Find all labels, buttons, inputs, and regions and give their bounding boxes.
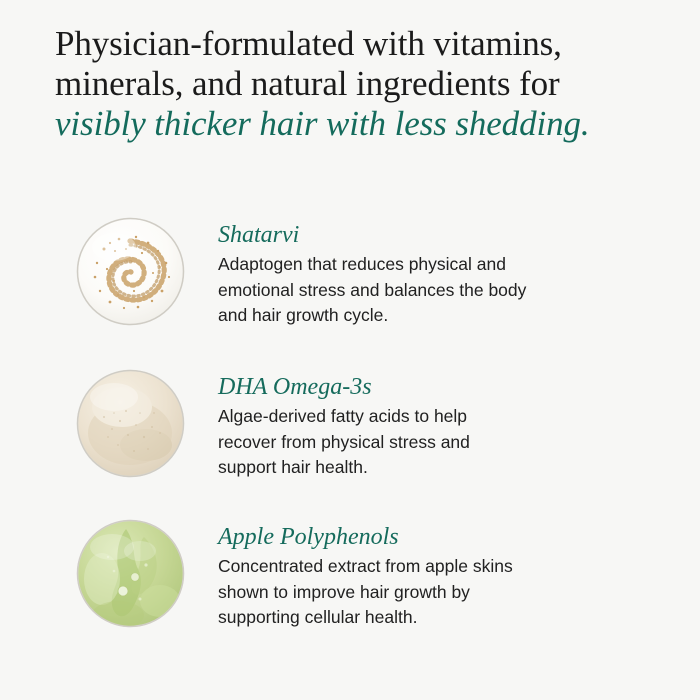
description-line: Adaptogen that reduces physical and (218, 252, 638, 278)
ingredient-description: Adaptogen that reduces physical and emot… (218, 252, 638, 329)
headline-accent-line: visibly thicker hair with less shedding. (55, 104, 655, 144)
description-line: shown to improve hair growth by (218, 580, 638, 606)
headline-line-1: Physician-formulated with vitamins, (55, 24, 655, 64)
ingredient-name: Apple Polyphenols (218, 524, 658, 551)
ingredient-name: DHA Omega-3s (218, 374, 658, 401)
ingredient-text-block: DHA Omega-3s Algae-derived fatty acids t… (218, 374, 658, 481)
description-line: recover from physical stress and (218, 430, 638, 456)
infographic-page: Physician-formulated with vitamins, mine… (0, 0, 700, 700)
description-line: Algae-derived fatty acids to help (218, 404, 638, 430)
ingredient-description: Concentrated extract from apple skins sh… (218, 554, 638, 631)
petri-dish-apple-polyphenols-icon (74, 517, 187, 630)
description-line: Concentrated extract from apple skins (218, 554, 638, 580)
ingredient-text-block: Shatarvi Adaptogen that reduces physical… (218, 222, 658, 329)
petri-dish-shatarvi-icon (74, 215, 187, 328)
petri-dish-dha-omega-3s-icon (74, 367, 187, 480)
list-item: Apple Polyphenols Concentrated extract f… (0, 507, 700, 657)
ingredient-list: Shatarvi Adaptogen that reduces physical… (0, 205, 700, 657)
description-line: emotional stress and balances the body (218, 278, 638, 304)
description-line: and hair growth cycle. (218, 303, 638, 329)
page-title: Physician-formulated with vitamins, mine… (55, 24, 655, 144)
ingredient-description: Algae-derived fatty acids to help recove… (218, 404, 638, 481)
ingredient-name: Shatarvi (218, 222, 658, 249)
headline-line-2: minerals, and natural ingredients for (55, 64, 655, 104)
list-item: Shatarvi Adaptogen that reduces physical… (0, 205, 700, 357)
list-item: DHA Omega-3s Algae-derived fatty acids t… (0, 357, 700, 507)
ingredient-text-block: Apple Polyphenols Concentrated extract f… (218, 524, 658, 631)
description-line: supporting cellular health. (218, 605, 638, 631)
description-line: support hair health. (218, 455, 638, 481)
